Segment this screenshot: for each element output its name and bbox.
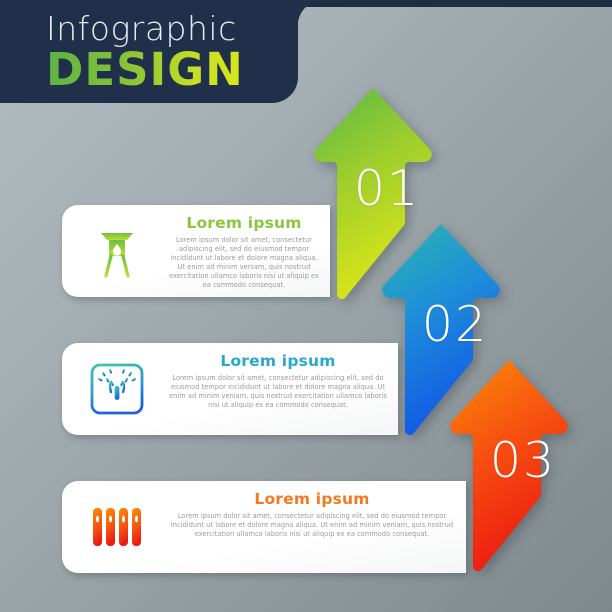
info-card-3[interactable]: Lorem ipsum Lorem ipsum dolor sit amet, … — [62, 481, 466, 573]
card-3-text: Lorem ipsum dolor sit amet, consectetur … — [168, 512, 456, 539]
infographic-canvas: Infographic DESIGN 01 — [0, 0, 612, 612]
card-2-body: Lorem ipsum Lorem ipsum dolor sit amet, … — [168, 352, 388, 429]
card-2-text: Lorem ipsum dolor sit amet, consectetur … — [168, 374, 388, 410]
info-card-2[interactable]: Lorem ipsum Lorem ipsum dolor sit amet, … — [62, 343, 398, 435]
card-3-title: Lorem ipsum — [168, 490, 456, 509]
card-2-title: Lorem ipsum — [168, 352, 388, 371]
header-banner: Infographic DESIGN — [0, 0, 298, 103]
card-1-title: Lorem ipsum — [168, 214, 320, 233]
water-tower-icon — [86, 220, 148, 282]
card-1-body: Lorem ipsum Lorem ipsum dolor sit amet, … — [168, 214, 320, 291]
page-subtitle: DESIGN — [46, 45, 244, 95]
server-rack-icon — [86, 496, 148, 558]
card-3-body: Lorem ipsum Lorem ipsum dolor sit amet, … — [168, 490, 456, 567]
water-fountain-sprinkler-icon — [86, 358, 148, 420]
info-card-1[interactable]: Lorem ipsum Lorem ipsum dolor sit amet, … — [62, 205, 330, 297]
card-1-text: Lorem ipsum dolor sit amet, consectetur … — [168, 236, 320, 289]
